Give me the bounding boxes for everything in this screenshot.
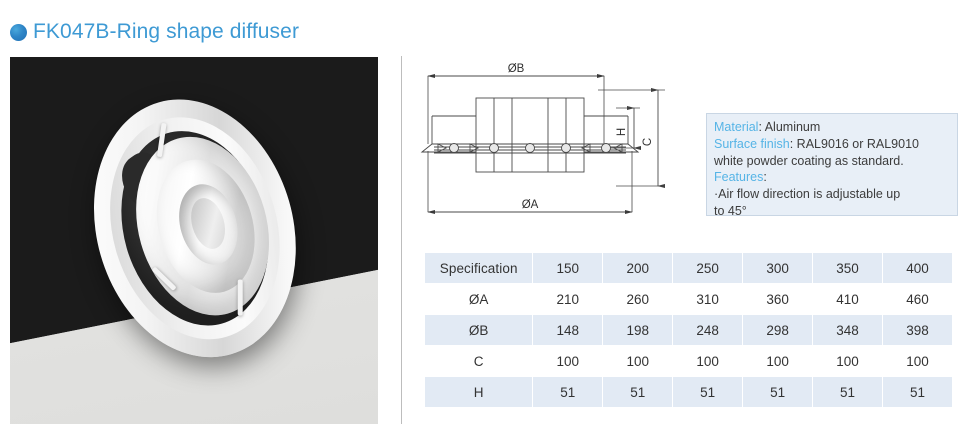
specs-info-box: Material: Aluminum Surface finish: RAL90… bbox=[706, 113, 958, 216]
surface-finish-line: Surface finish: RAL9016 or RAL9010 bbox=[714, 136, 951, 153]
table-cell: 100 bbox=[743, 346, 813, 377]
product-photo bbox=[10, 57, 378, 424]
surface-finish-value: : RAL9016 or RAL9010 bbox=[790, 137, 919, 151]
dimension-label-h: H bbox=[616, 128, 628, 136]
table-cell: 51 bbox=[813, 377, 883, 408]
table-cell: 51 bbox=[743, 377, 813, 408]
table-cell: 100 bbox=[603, 346, 673, 377]
surface-finish-line-2: white powder coating as standard. bbox=[714, 153, 951, 170]
features-line: Features: bbox=[714, 169, 951, 186]
table-cell: 100 bbox=[673, 346, 743, 377]
table-row: H515151515151 bbox=[425, 377, 953, 408]
page-title-text: FK047B-Ring shape diffuser bbox=[33, 20, 299, 44]
table-cell: 398 bbox=[883, 315, 953, 346]
table-cell: 150 bbox=[533, 253, 603, 284]
table-row: ØA210260310360410460 bbox=[425, 284, 953, 315]
material-value: : Aluminum bbox=[758, 120, 820, 134]
table-cell: 51 bbox=[883, 377, 953, 408]
specification-table: Specification150200250300350400ØA2102603… bbox=[424, 252, 953, 408]
surface-finish-key: Surface finish bbox=[714, 137, 790, 151]
table-cell: 51 bbox=[533, 377, 603, 408]
page-title: FK047B-Ring shape diffuser bbox=[10, 16, 299, 48]
technical-drawing: ØB ØA C H bbox=[420, 56, 685, 231]
table-cell: 148 bbox=[533, 315, 603, 346]
feature-item-1-line-2: to 45° bbox=[714, 203, 951, 220]
feature-item-1: ·Air flow direction is adjustable up bbox=[714, 186, 951, 203]
diffuser-vane bbox=[238, 279, 243, 315]
dimension-label-oa: ØA bbox=[522, 199, 539, 211]
table-cell: 200 bbox=[603, 253, 673, 284]
table-cell: 298 bbox=[743, 315, 813, 346]
table-cell: 100 bbox=[813, 346, 883, 377]
table-cell: 310 bbox=[673, 284, 743, 315]
table-cell: 460 bbox=[883, 284, 953, 315]
features-key: Features bbox=[714, 170, 763, 184]
table-cell: 210 bbox=[533, 284, 603, 315]
dimension-label-c: C bbox=[642, 138, 654, 146]
table-cell: 400 bbox=[883, 253, 953, 284]
table-cell: 248 bbox=[673, 315, 743, 346]
table-cell: 198 bbox=[603, 315, 673, 346]
table-cell: 51 bbox=[603, 377, 673, 408]
table-cell: 100 bbox=[533, 346, 603, 377]
table-cell: 51 bbox=[673, 377, 743, 408]
dimension-label-ob: ØB bbox=[508, 63, 525, 75]
table-row: Specification150200250300350400 bbox=[425, 253, 953, 284]
table-cell: 300 bbox=[743, 253, 813, 284]
table-row-label: ØA bbox=[425, 284, 533, 315]
bullet-icon bbox=[10, 24, 27, 41]
table-cell: 100 bbox=[883, 346, 953, 377]
table-row: C100100100100100100 bbox=[425, 346, 953, 377]
table-cell: 250 bbox=[673, 253, 743, 284]
table-cell: 360 bbox=[743, 284, 813, 315]
table-row-label: ØB bbox=[425, 315, 533, 346]
table-cell: 410 bbox=[813, 284, 883, 315]
table-cell: 350 bbox=[813, 253, 883, 284]
column-divider bbox=[401, 56, 402, 424]
table-cell: 348 bbox=[813, 315, 883, 346]
specification-table-body: Specification150200250300350400ØA2102603… bbox=[425, 253, 953, 408]
features-colon: : bbox=[763, 170, 766, 184]
table-row-label: C bbox=[425, 346, 533, 377]
material-line: Material: Aluminum bbox=[714, 119, 951, 136]
material-key: Material bbox=[714, 120, 758, 134]
table-row: ØB148198248298348398 bbox=[425, 315, 953, 346]
table-cell: 260 bbox=[603, 284, 673, 315]
table-row-label: Specification bbox=[425, 253, 533, 284]
table-row-label: H bbox=[425, 377, 533, 408]
